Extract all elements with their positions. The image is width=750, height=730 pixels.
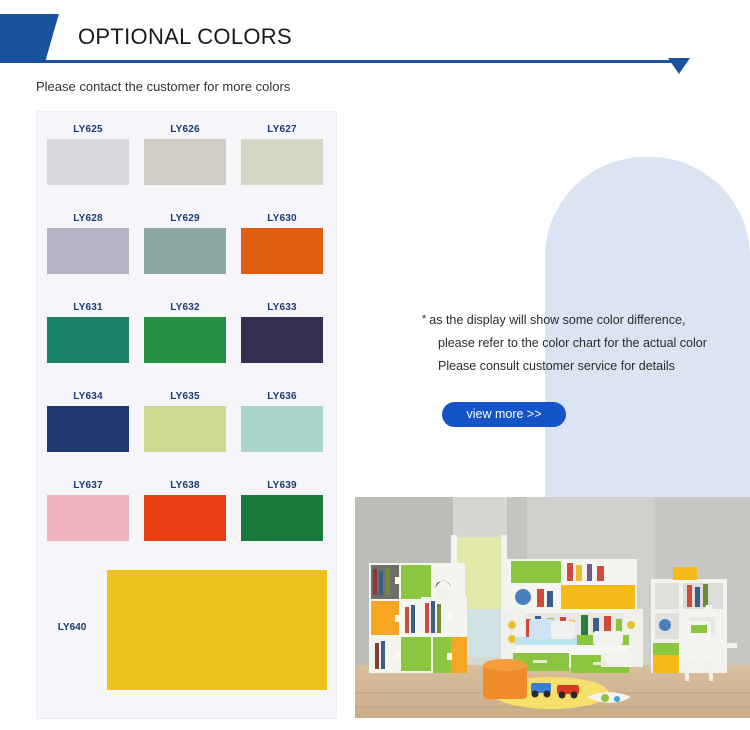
swatch-ly630[interactable]: LY630 (241, 213, 323, 274)
swatch-label: LY628 (47, 213, 129, 225)
swatch-label: LY626 (144, 124, 226, 136)
swatch-chip[interactable] (47, 406, 129, 452)
swatch-ly634[interactable]: LY634 (47, 391, 129, 452)
header-rule (0, 60, 680, 63)
chevron-down-icon (668, 58, 690, 74)
asterisk-icon: * (422, 313, 426, 325)
swatch-ly635[interactable]: LY635 (144, 391, 226, 452)
room-photo-illustration (355, 497, 750, 718)
swatch-label: LY632 (144, 302, 226, 314)
note-line-2: please refer to the color chart for the … (422, 332, 750, 355)
swatch-chip[interactable] (144, 495, 226, 541)
swatch-label: LY630 (241, 213, 323, 225)
subtitle-text: Please contact the customer for more col… (36, 79, 290, 94)
swatch-chip[interactable] (47, 317, 129, 363)
swatch-ly626[interactable]: LY626 (144, 124, 226, 185)
color-difference-note: *as the display will show some color dif… (422, 308, 750, 378)
swatch-label: LY640 (42, 622, 102, 633)
swatch-label: LY635 (144, 391, 226, 403)
swatch-ly629[interactable]: LY629 (144, 213, 226, 274)
swatch-ly639[interactable]: LY639 (241, 480, 323, 541)
swatch-chip[interactable] (47, 228, 129, 274)
swatch-chip[interactable] (241, 139, 323, 185)
optional-colors-page: OPTIONAL COLORS Please contact the custo… (0, 0, 750, 730)
note-line-1-text: as the display will show some color diff… (429, 313, 685, 327)
swatch-ly633[interactable]: LY633 (241, 302, 323, 363)
swatch-chip[interactable] (144, 406, 226, 452)
swatch-label: LY638 (144, 480, 226, 492)
swatch-ly636[interactable]: LY636 (241, 391, 323, 452)
note-line-1: *as the display will show some color dif… (422, 308, 750, 332)
swatch-label: LY633 (241, 302, 323, 314)
swatch-label: LY637 (47, 480, 129, 492)
swatch-label: LY634 (47, 391, 129, 403)
swatch-chip[interactable] (241, 406, 323, 452)
swatch-label: LY631 (47, 302, 129, 314)
swatch-ly640[interactable]: LY640 (107, 570, 327, 690)
swatch-ly628[interactable]: LY628 (47, 213, 129, 274)
section-header: OPTIONAL COLORS (0, 14, 750, 62)
swatch-label: LY625 (47, 124, 129, 136)
color-swatch-card: LY625LY626LY627LY628LY629LY630LY631LY632… (37, 112, 336, 718)
swatch-ly631[interactable]: LY631 (47, 302, 129, 363)
swatch-chip[interactable] (241, 317, 323, 363)
swatch-chip[interactable] (144, 139, 226, 185)
swatch-chip[interactable] (144, 317, 226, 363)
view-more-button[interactable]: view more >> (442, 402, 566, 427)
swatch-ly638[interactable]: LY638 (144, 480, 226, 541)
swatch-label: LY627 (241, 124, 323, 136)
swatch-chip[interactable] (47, 495, 129, 541)
swatch-chip[interactable] (144, 228, 226, 274)
page-title: OPTIONAL COLORS (78, 17, 292, 57)
swatch-ly637[interactable]: LY637 (47, 480, 129, 541)
swatch-chip[interactable] (47, 139, 129, 185)
swatch-chip[interactable] (241, 495, 323, 541)
swatch-chip[interactable] (107, 570, 327, 690)
swatch-label: LY636 (241, 391, 323, 403)
swatch-ly632[interactable]: LY632 (144, 302, 226, 363)
room-photo (355, 497, 750, 718)
swatch-label: LY629 (144, 213, 226, 225)
swatch-chip[interactable] (241, 228, 323, 274)
swatch-ly625[interactable]: LY625 (47, 124, 129, 185)
swatch-ly627[interactable]: LY627 (241, 124, 323, 185)
note-line-3: Please consult customer service for deta… (422, 355, 750, 378)
swatch-label: LY639 (241, 480, 323, 492)
